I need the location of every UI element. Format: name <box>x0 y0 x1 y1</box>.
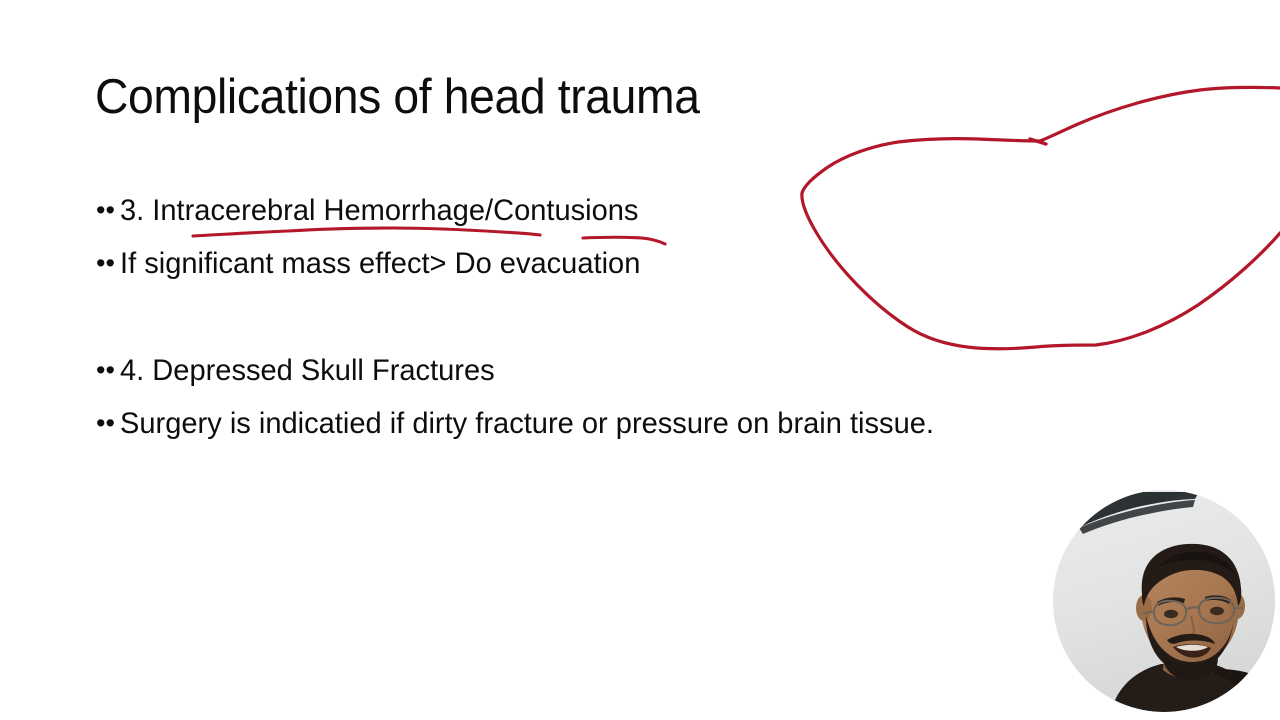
bullet-marker-icon: • <box>96 357 120 384</box>
list-item: • Surgery is indicatied if dirty fractur… <box>96 407 1156 460</box>
list-item: • If significant mass effect> Do evacuat… <box>96 247 1156 300</box>
list-item: • 3. Intracerebral Hemorrhage/Contusions <box>96 194 1156 247</box>
list-item: • 4. Depressed Skull Fractures <box>96 354 1156 407</box>
bullet-list: • 3. Intracerebral Hemorrhage/Contusions… <box>96 194 1156 460</box>
presenter-webcam-bubble[interactable] <box>1053 490 1275 712</box>
bullet-marker-icon: • <box>96 410 120 437</box>
eye-right-shape <box>1210 607 1224 615</box>
ink-stroke-end-notch-icon <box>1030 139 1046 144</box>
list-item-label: If significant mass effect> Do evacuatio… <box>120 247 640 282</box>
page-title: Complications of head trauma <box>95 72 700 124</box>
list-item-label: Surgery is indicatied if dirty fracture … <box>120 407 934 442</box>
bullet-marker-icon: • <box>96 250 120 277</box>
eye-left-shape <box>1164 610 1178 618</box>
list-spacer <box>96 300 1156 354</box>
bullet-marker-icon: • <box>96 197 120 224</box>
list-item-label: 4. Depressed Skull Fractures <box>120 354 495 389</box>
slide-canvas: Complications of head trauma • 3. Intrac… <box>0 0 1280 720</box>
webcam-video-frame <box>1053 490 1275 712</box>
list-item-label: 3. Intracerebral Hemorrhage/Contusions <box>120 194 638 229</box>
